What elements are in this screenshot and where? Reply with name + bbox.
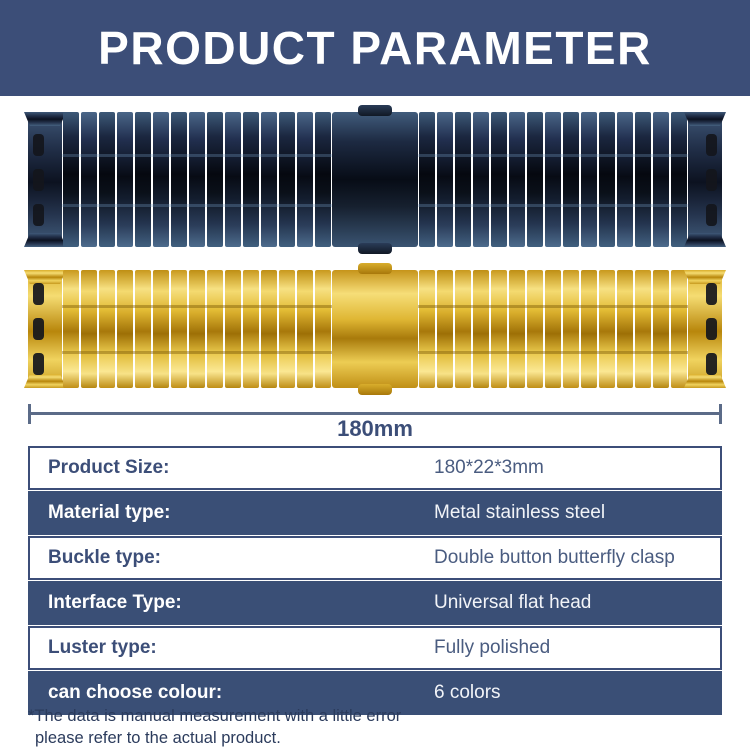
bracelet-link — [171, 270, 188, 388]
lug-slot — [706, 134, 717, 156]
bracelet-link — [635, 112, 652, 247]
lug-slot — [706, 318, 717, 340]
lug-slot — [33, 283, 44, 305]
clasp-release-tab — [358, 263, 392, 274]
bracelet-link — [99, 112, 116, 247]
bracelet-link — [671, 270, 688, 388]
page-header-banner: PRODUCT PARAMETER — [0, 0, 750, 96]
spec-label-can-choose-colour: can choose colour: — [48, 682, 434, 704]
bracelet-link — [455, 270, 472, 388]
bracelet-link — [671, 112, 688, 247]
bracelet-link — [153, 270, 170, 388]
bracelet-link — [419, 270, 436, 388]
bracelet-link — [261, 270, 278, 388]
spec-label-material-type: Material type: — [48, 502, 434, 524]
gold-band-left-lug — [28, 270, 62, 388]
bracelet-link — [599, 270, 616, 388]
bracelet-link — [153, 112, 170, 247]
spec-value-can-choose-colour: 6 colors — [434, 682, 720, 704]
bracelet-link — [189, 270, 206, 388]
clasp-release-tab — [358, 105, 392, 116]
bracelet-link — [473, 112, 490, 247]
bracelet-link — [297, 112, 314, 247]
bracelet-link — [81, 112, 98, 247]
dimension-line — [28, 412, 722, 415]
blue-band-left-lug — [28, 112, 62, 247]
bracelet-link — [135, 270, 152, 388]
bracelet-link — [527, 112, 544, 247]
bracelet-link — [473, 270, 490, 388]
bracelet-link — [653, 112, 670, 247]
spec-value-interface-type: Universal flat head — [434, 592, 720, 614]
bracelet-link — [581, 270, 598, 388]
clasp-release-tab — [358, 243, 392, 254]
bracelet-link — [635, 270, 652, 388]
lug-slot — [706, 169, 717, 191]
lug-slot — [33, 318, 44, 340]
bracelet-link — [279, 270, 296, 388]
spec-value-luster-type: Fully polished — [434, 637, 720, 659]
gold-band-right-lug-slots — [706, 283, 717, 375]
bracelet-link — [63, 112, 80, 247]
specification-table: Product Size: 180*22*3mm Material type: … — [28, 446, 722, 716]
lug-slot — [706, 204, 717, 226]
bracelet-link — [545, 270, 562, 388]
bracelet-link — [279, 112, 296, 247]
gold-band-right-links — [418, 270, 688, 388]
bracelet-link — [419, 112, 436, 247]
blue-band-left-lug-slots — [33, 134, 44, 226]
bracelet-link — [225, 112, 242, 247]
page-title: PRODUCT PARAMETER — [98, 25, 652, 71]
blue-band-right-lug — [688, 112, 722, 247]
bracelet-link — [617, 270, 634, 388]
bracelet-link — [189, 112, 206, 247]
bracelet-link — [297, 270, 314, 388]
bracelet-link — [563, 112, 580, 247]
bracelet-link — [81, 270, 98, 388]
lug-slot — [33, 204, 44, 226]
gold-band-left-lug-slots — [33, 283, 44, 375]
lug-slot — [33, 134, 44, 156]
bracelet-link — [599, 112, 616, 247]
gold-band-left-links — [62, 270, 332, 388]
bracelet-link — [225, 270, 242, 388]
bracelet-link — [243, 112, 260, 247]
bracelet-link — [207, 112, 224, 247]
bracelet-link — [99, 270, 116, 388]
bracelet-link — [509, 112, 526, 247]
bracelet-link — [437, 270, 454, 388]
bracelet-link — [315, 270, 332, 388]
spec-label-luster-type: Luster type: — [48, 637, 434, 659]
gold-watch-band-image — [28, 270, 722, 388]
bracelet-link — [509, 270, 526, 388]
bracelet-link — [243, 270, 260, 388]
spec-value-buckle-type: Double button butterfly clasp — [434, 547, 720, 569]
spec-value-product-size: 180*22*3mm — [434, 457, 720, 479]
gold-band-butterfly-clasp — [332, 270, 418, 388]
bracelet-link — [527, 270, 544, 388]
clasp-release-tab — [358, 384, 392, 395]
bracelet-link — [261, 112, 278, 247]
spec-value-material-type: Metal stainless steel — [434, 502, 720, 524]
bracelet-link — [437, 112, 454, 247]
bracelet-link — [491, 112, 508, 247]
spec-label-interface-type: Interface Type: — [48, 592, 434, 614]
lug-slot — [33, 169, 44, 191]
table-row: Material type: Metal stainless steel — [28, 491, 722, 535]
blue-watch-band-image — [28, 112, 722, 247]
bracelet-link — [135, 112, 152, 247]
lug-slot — [706, 353, 717, 375]
dimension-indicator: 180mm — [28, 404, 722, 442]
bracelet-link — [545, 112, 562, 247]
bracelet-link — [455, 112, 472, 247]
bracelet-link — [63, 270, 80, 388]
bracelet-link — [315, 112, 332, 247]
blue-band-right-lug-slots — [706, 134, 717, 226]
blue-band-left-links — [62, 112, 332, 247]
bracelet-link — [117, 112, 134, 247]
spec-label-product-size: Product Size: — [48, 457, 434, 479]
bracelet-link — [653, 270, 670, 388]
bracelet-link — [207, 270, 224, 388]
blue-band-butterfly-clasp — [332, 112, 418, 247]
bracelet-link — [617, 112, 634, 247]
bracelet-link — [563, 270, 580, 388]
bracelet-link — [491, 270, 508, 388]
table-row: Interface Type: Universal flat head — [28, 581, 722, 625]
measurement-disclaimer: *The data is manual measurement with a l… — [28, 706, 722, 750]
lug-slot — [33, 353, 44, 375]
gold-band-right-lug — [688, 270, 722, 388]
bracelet-link — [117, 270, 134, 388]
bracelet-link — [581, 112, 598, 247]
lug-slot — [706, 283, 717, 305]
bracelet-link — [171, 112, 188, 247]
product-image-area — [0, 96, 750, 392]
table-row: Product Size: 180*22*3mm — [28, 446, 722, 490]
blue-band-right-links — [418, 112, 688, 247]
dimension-label: 180mm — [28, 416, 722, 442]
product-parameter-page: PRODUCT PARAMETER — [0, 0, 750, 750]
spec-label-buckle-type: Buckle type: — [48, 547, 434, 569]
table-row: Buckle type: Double button butterfly cla… — [28, 536, 722, 580]
disclaimer-line-2: please refer to the actual product. — [28, 728, 722, 750]
disclaimer-line-1: *The data is manual measurement with a l… — [28, 706, 722, 728]
table-row: Luster type: Fully polished — [28, 626, 722, 670]
